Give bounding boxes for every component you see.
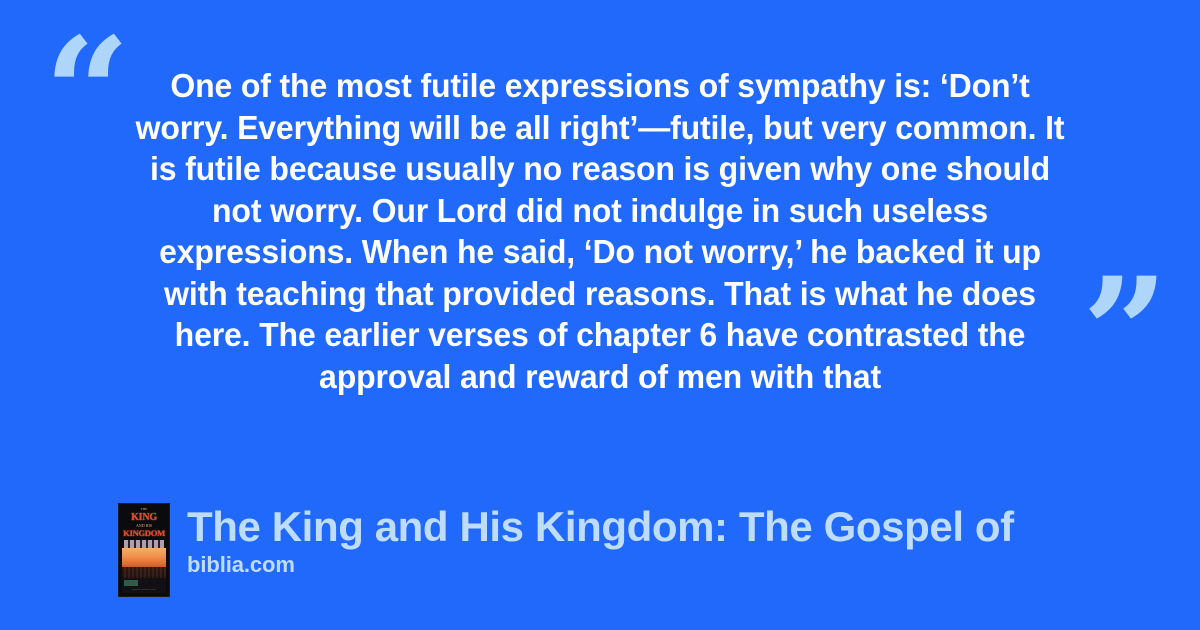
site-name: biblia.com — [187, 551, 1014, 579]
book-cover-skyline-silhouette — [122, 567, 166, 578]
book-cover-thumbnail: THE KING AND HIS KINGDOM ——— ——— —— — [118, 503, 170, 597]
quote-card: “ One of the most futile expressions of … — [0, 0, 1200, 630]
book-cover-title-line-1: KING — [119, 513, 169, 523]
book-cover-title-line-2: KINGDOM — [119, 529, 169, 538]
quote-text: One of the most futile expressions of sy… — [132, 66, 1068, 398]
attribution: THE KING AND HIS KINGDOM ——— ——— —— The … — [118, 503, 1014, 597]
open-quote-icon: “ — [44, 18, 130, 168]
book-cover-badge — [124, 580, 138, 586]
attribution-text: The King and His Kingdom: The Gospel of … — [187, 503, 1014, 579]
book-cover-kicker: THE — [119, 508, 169, 511]
book-cover-lower-panel: ——— ——— —— — [122, 578, 166, 593]
close-quote-icon: ” — [1082, 258, 1168, 408]
book-cover-author-line: ——— ——— —— — [122, 589, 166, 592]
book-cover-sunset-photo — [122, 548, 166, 578]
book-title: The King and His Kingdom: The Gospel of — [187, 503, 1014, 550]
